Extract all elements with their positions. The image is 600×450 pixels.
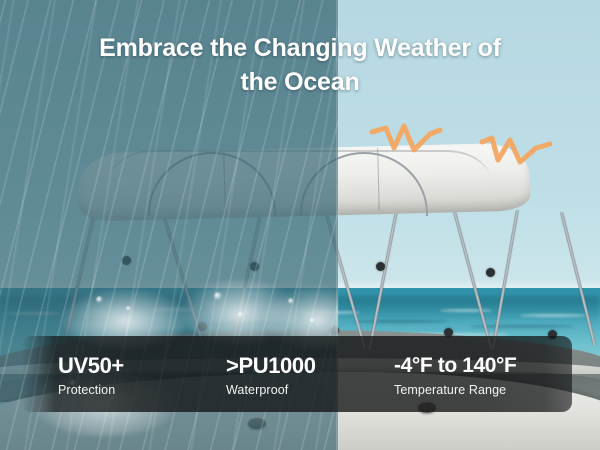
feature-label: Temperature Range [394, 383, 572, 398]
frame-leg-7 [491, 210, 519, 350]
frame-leg-8 [560, 212, 597, 347]
frame-leg-5 [368, 206, 399, 350]
feature-waterproof: >PU1000 Waterproof [226, 350, 394, 399]
feature-value: >PU1000 [226, 354, 394, 379]
page-title-line-2: the Ocean [58, 66, 542, 100]
frame-joint-4 [486, 268, 495, 277]
feature-uv-protection: UV50+ Protection [22, 350, 226, 399]
heat-ray-left-icon [370, 122, 442, 162]
feature-value: -4°F to 140°F [394, 354, 572, 378]
frame-leg-6 [452, 208, 493, 350]
product-banner: Embrace the Changing Weather of the Ocea… [0, 0, 600, 450]
feature-bar: UV50+ Protection >PU1000 Waterproof -4°F… [22, 336, 572, 412]
page-title: Embrace the Changing Weather of the Ocea… [0, 32, 600, 99]
feature-label: Waterproof [226, 383, 394, 398]
feature-value: UV50+ [58, 354, 226, 379]
frame-joint-3 [376, 262, 385, 271]
page-title-line-1: Embrace the Changing Weather of [58, 32, 542, 66]
heat-ray-right-icon [480, 134, 552, 174]
feature-temperature-range: -4°F to 140°F Temperature Range [394, 350, 572, 398]
feature-label: Protection [58, 383, 226, 398]
